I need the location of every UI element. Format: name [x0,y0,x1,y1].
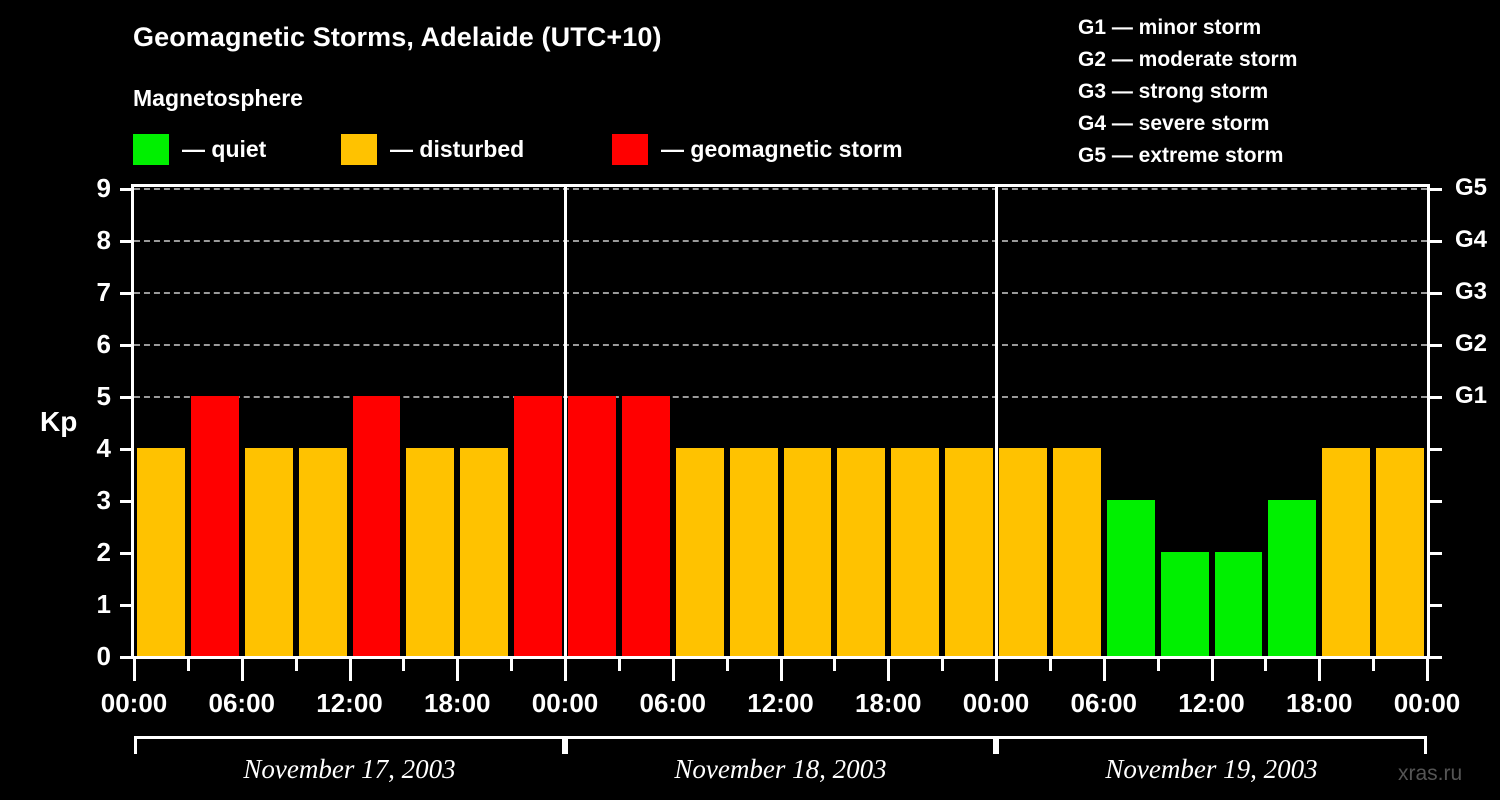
y-tick-right [1430,396,1442,399]
x-axis-tick-label: 18:00 [855,688,922,719]
bar [676,448,724,656]
bar [191,396,239,656]
y-tick-left [120,500,131,503]
axis-right [1427,184,1430,659]
bracket-cap-left [134,736,137,754]
bar [1322,448,1370,656]
g-axis-tick-label: G5 [1455,176,1487,200]
bracket-line [996,736,1427,739]
g-scale-row: G5 — extreme storm [1078,140,1297,172]
x-tick-minor [833,659,836,671]
legend-swatch-icon [612,134,648,165]
y-tick-left [120,344,131,347]
y-tick-right [1430,292,1442,295]
x-axis-tick-label: 06:00 [209,688,276,719]
y-axis-tick-label: 8 [71,227,111,253]
date-label: November 19, 2003 [1105,754,1317,785]
bar [837,448,885,656]
y-axis-tick-label: 9 [71,175,111,201]
y-tick-left [120,396,131,399]
y-axis-tick-label: 1 [71,591,111,617]
bar [1053,448,1101,656]
x-axis-tick-label: 00:00 [1394,688,1461,719]
g-scale-row: G4 — severe storm [1078,108,1297,140]
bar [622,396,670,656]
bar [460,448,508,656]
bar [245,448,293,656]
g-scale-row: G3 — strong storm [1078,76,1297,108]
x-tick-minor [618,659,621,671]
g-scale-row: G1 — minor storm [1078,12,1297,44]
y-axis-tick-label: 3 [71,487,111,513]
y-tick-left [120,656,131,659]
bar [1161,552,1209,656]
y-tick-left [120,240,131,243]
legend-item: — quiet [133,133,266,165]
x-tick-minor [941,659,944,671]
legend-label: — quiet [182,136,266,163]
x-tick-minor [187,659,190,671]
bar [1215,552,1263,656]
x-tick-minor [726,659,729,671]
bar [299,448,347,656]
bracket-line [565,736,996,739]
x-tick-minor [402,659,405,671]
g-axis-tick-label: G1 [1455,384,1487,408]
legend-item: — disturbed [341,133,524,165]
x-axis-tick-label: 12:00 [747,688,814,719]
y-axis-tick-label: 2 [71,539,111,565]
bar [1107,500,1155,656]
plot-area [131,184,1430,659]
y-tick-right [1430,188,1442,191]
bar [353,396,401,656]
y-axis-title: Kp [40,406,77,438]
legend-label: — disturbed [390,136,524,163]
x-tick-minor [1049,659,1052,671]
watermark: xras.ru [1398,762,1462,786]
y-tick-left [120,448,131,451]
x-axis-tick-label: 18:00 [424,688,491,719]
chart-page: Geomagnetic Storms, Adelaide (UTC+10) Ma… [0,0,1500,800]
y-tick-left [120,292,131,295]
bracket-cap-right [1424,736,1427,754]
y-axis-tick-label: 6 [71,331,111,357]
x-tick-minor [510,659,513,671]
date-label: November 17, 2003 [243,754,455,785]
bracket-line [134,736,565,739]
x-tick-major [564,659,567,681]
legend-swatch-icon [133,134,169,165]
y-tick-right [1430,448,1442,451]
x-tick-minor [295,659,298,671]
g-axis-tick-label: G2 [1455,332,1487,356]
y-tick-left [120,552,131,555]
y-axis-tick-label: 0 [71,643,111,669]
x-tick-major [1103,659,1106,681]
x-axis-tick-label: 06:00 [640,688,707,719]
y-tick-right [1430,500,1442,503]
x-tick-minor [1157,659,1160,671]
y-tick-right [1430,604,1442,607]
y-tick-left [120,188,131,191]
x-tick-major [672,659,675,681]
x-axis-tick-label: 06:00 [1071,688,1138,719]
g-axis-tick-label: G3 [1455,280,1487,304]
x-tick-major [1211,659,1214,681]
x-axis-tick-label: 00:00 [963,688,1030,719]
y-tick-right [1430,656,1442,659]
bar [784,448,832,656]
bar [1376,448,1424,656]
chart-subtitle: Magnetosphere [133,85,303,112]
bar-series [134,184,1427,656]
bar [891,448,939,656]
legend-swatch-icon [341,134,377,165]
date-bracket [996,736,1427,754]
date-bracket [134,736,565,754]
x-tick-minor [1264,659,1267,671]
x-tick-major [995,659,998,681]
x-tick-major [780,659,783,681]
x-axis-tick-label: 18:00 [1286,688,1353,719]
legend-label: — geomagnetic storm [661,136,903,163]
x-tick-major [349,659,352,681]
bar [1268,500,1316,656]
x-tick-major [887,659,890,681]
g-scale-row: G2 — moderate storm [1078,44,1297,76]
bar [999,448,1047,656]
y-tick-right [1430,344,1442,347]
x-tick-major [1318,659,1321,681]
y-axis-tick-label: 7 [71,279,111,305]
x-axis-tick-label: 12:00 [316,688,383,719]
x-axis-tick-label: 12:00 [1178,688,1245,719]
g-axis-tick-label: G4 [1455,228,1487,252]
y-axis-tick-label: 4 [71,435,111,461]
bar [406,448,454,656]
day-separator [564,184,567,659]
x-tick-major [133,659,136,681]
x-axis-tick-label: 00:00 [101,688,168,719]
x-tick-minor [1372,659,1375,671]
y-axis-tick-label: 5 [71,383,111,409]
x-tick-major [456,659,459,681]
bar [514,396,562,656]
page-title: Geomagnetic Storms, Adelaide (UTC+10) [133,22,662,53]
bar [568,396,616,656]
bracket-cap-left [565,736,568,754]
date-label: November 18, 2003 [674,754,886,785]
bar [945,448,993,656]
x-tick-major [241,659,244,681]
bar [730,448,778,656]
y-tick-right [1430,552,1442,555]
g-scale-legend: G1 — minor stormG2 — moderate stormG3 — … [1078,12,1297,172]
bracket-cap-left [996,736,999,754]
date-bracket [565,736,996,754]
y-tick-right [1430,240,1442,243]
day-separator [995,184,998,659]
y-tick-left [120,604,131,607]
bar [137,448,185,656]
x-tick-major [1426,659,1429,681]
legend-item: — geomagnetic storm [612,133,903,165]
x-axis-tick-label: 00:00 [532,688,599,719]
